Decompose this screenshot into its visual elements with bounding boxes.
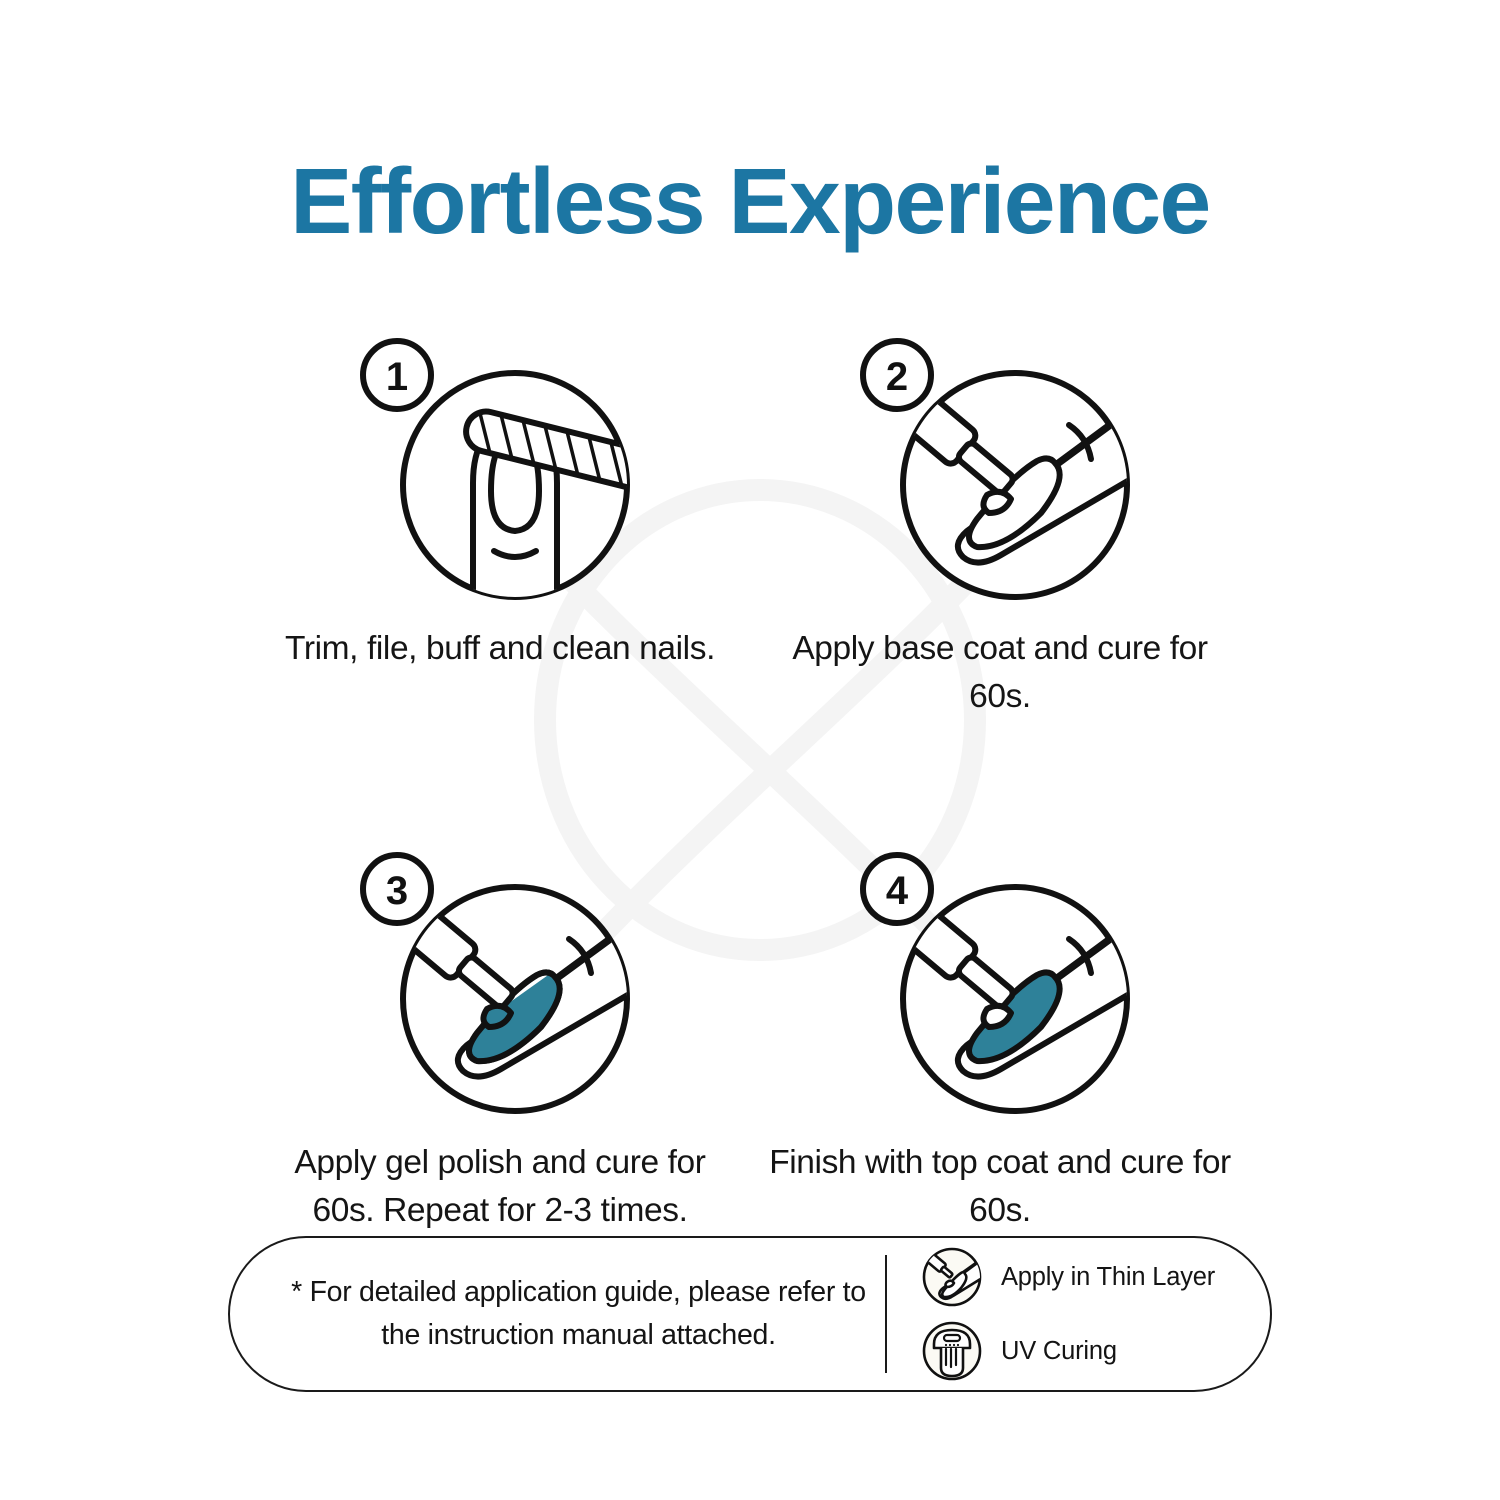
step-caption: Apply base coat and cure for 60s.	[765, 625, 1235, 720]
footer-icon-label: Apply in Thin Layer	[1001, 1263, 1215, 1292]
steps-row-top: 1 Trim, file, buff and clean nails.	[250, 333, 1250, 720]
steps-row-bottom: 3 Apply gel polish and cure for 60s. Rep…	[250, 847, 1250, 1234]
uv-curing-icon	[921, 1320, 983, 1382]
apply-thin-layer-icon	[921, 1246, 983, 1308]
step-1: 1 Trim, file, buff and clean nails.	[250, 333, 750, 720]
gel-polish-brush-icon: 3	[355, 847, 645, 1119]
base-coat-brush-icon: 2	[855, 333, 1145, 605]
page-title: Effortless Experience	[0, 148, 1500, 255]
footer-icon-item: Apply in Thin Layer	[921, 1246, 1270, 1308]
top-coat-brush-icon: 4	[855, 847, 1145, 1119]
step-3: 3 Apply gel polish and cure for 60s. Rep…	[250, 847, 750, 1234]
infographic-page: Effortless Experience	[0, 0, 1500, 1500]
step-number: 1	[386, 355, 408, 399]
footer-icon-list: Apply in Thin Layer	[887, 1246, 1270, 1382]
step-number: 4	[886, 869, 909, 913]
footer-icon-label: UV Curing	[1001, 1337, 1117, 1366]
nail-file-icon: 1	[355, 333, 645, 605]
step-number: 2	[886, 355, 908, 399]
step-caption: Apply gel polish and cure for 60s. Repea…	[265, 1139, 735, 1234]
footer-icon-item: UV Curing	[921, 1320, 1270, 1382]
footer-panel: * For detailed application guide, please…	[228, 1236, 1272, 1392]
step-2: 2 Apply base coat and cure for 60s.	[750, 333, 1250, 720]
steps-grid: 1 Trim, file, buff and clean nails.	[250, 333, 1250, 1234]
step-number: 3	[386, 869, 408, 913]
footer-note: * For detailed application guide, please…	[230, 1271, 885, 1357]
step-caption: Trim, file, buff and clean nails.	[265, 625, 735, 673]
step-caption: Finish with top coat and cure for 60s.	[765, 1139, 1235, 1234]
step-4: 4 Finish with top coat and cure for 60s.	[750, 847, 1250, 1234]
